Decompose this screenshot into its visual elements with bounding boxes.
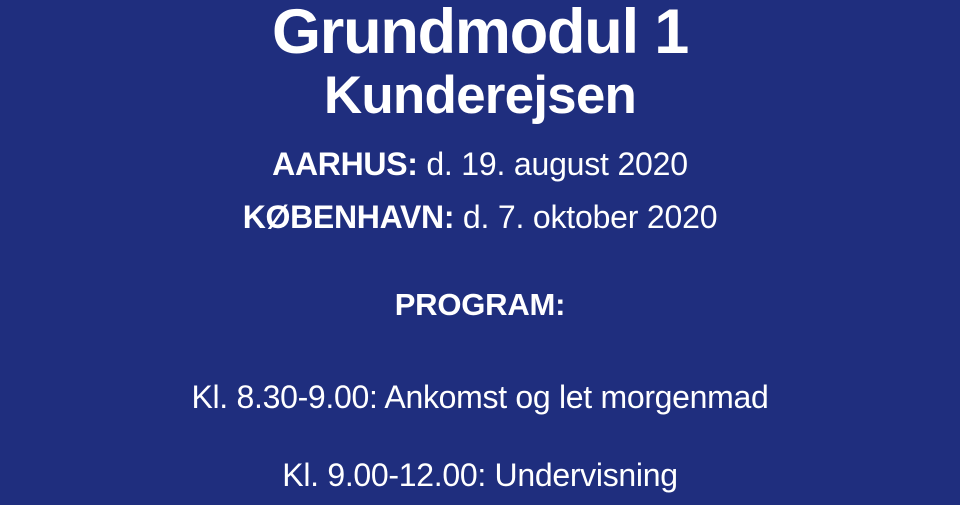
page-title-secondary: Kunderejsen xyxy=(0,67,960,125)
program-schedule-list: Kl. 8.30-9.00: Ankomst og let morgenmad … xyxy=(0,358,960,505)
date-list: AARHUS: d. 19. august 2020 KØBENHAVN: d.… xyxy=(0,138,960,244)
page-title-primary: Grundmodul 1 xyxy=(0,0,960,67)
date-value-koebenhavn: d. 7. oktober 2020 xyxy=(454,199,717,235)
schedule-item-teaching: Kl. 9.00-12.00: Undervisning xyxy=(0,436,960,505)
date-label-aarhus: AARHUS: xyxy=(272,146,417,182)
date-label-koebenhavn: KØBENHAVN: xyxy=(243,199,455,235)
schedule-item-morning: Kl. 8.30-9.00: Ankomst og let morgenmad xyxy=(0,358,960,436)
date-line-aarhus: AARHUS: d. 19. august 2020 xyxy=(0,138,960,191)
date-line-koebenhavn: KØBENHAVN: d. 7. oktober 2020 xyxy=(0,191,960,244)
title-block: Grundmodul 1 Kunderejsen xyxy=(0,0,960,125)
slide-canvas: Grundmodul 1 Kunderejsen AARHUS: d. 19. … xyxy=(0,0,960,505)
date-value-aarhus: d. 19. august 2020 xyxy=(418,146,688,182)
program-heading: PROGRAM: xyxy=(0,288,960,322)
